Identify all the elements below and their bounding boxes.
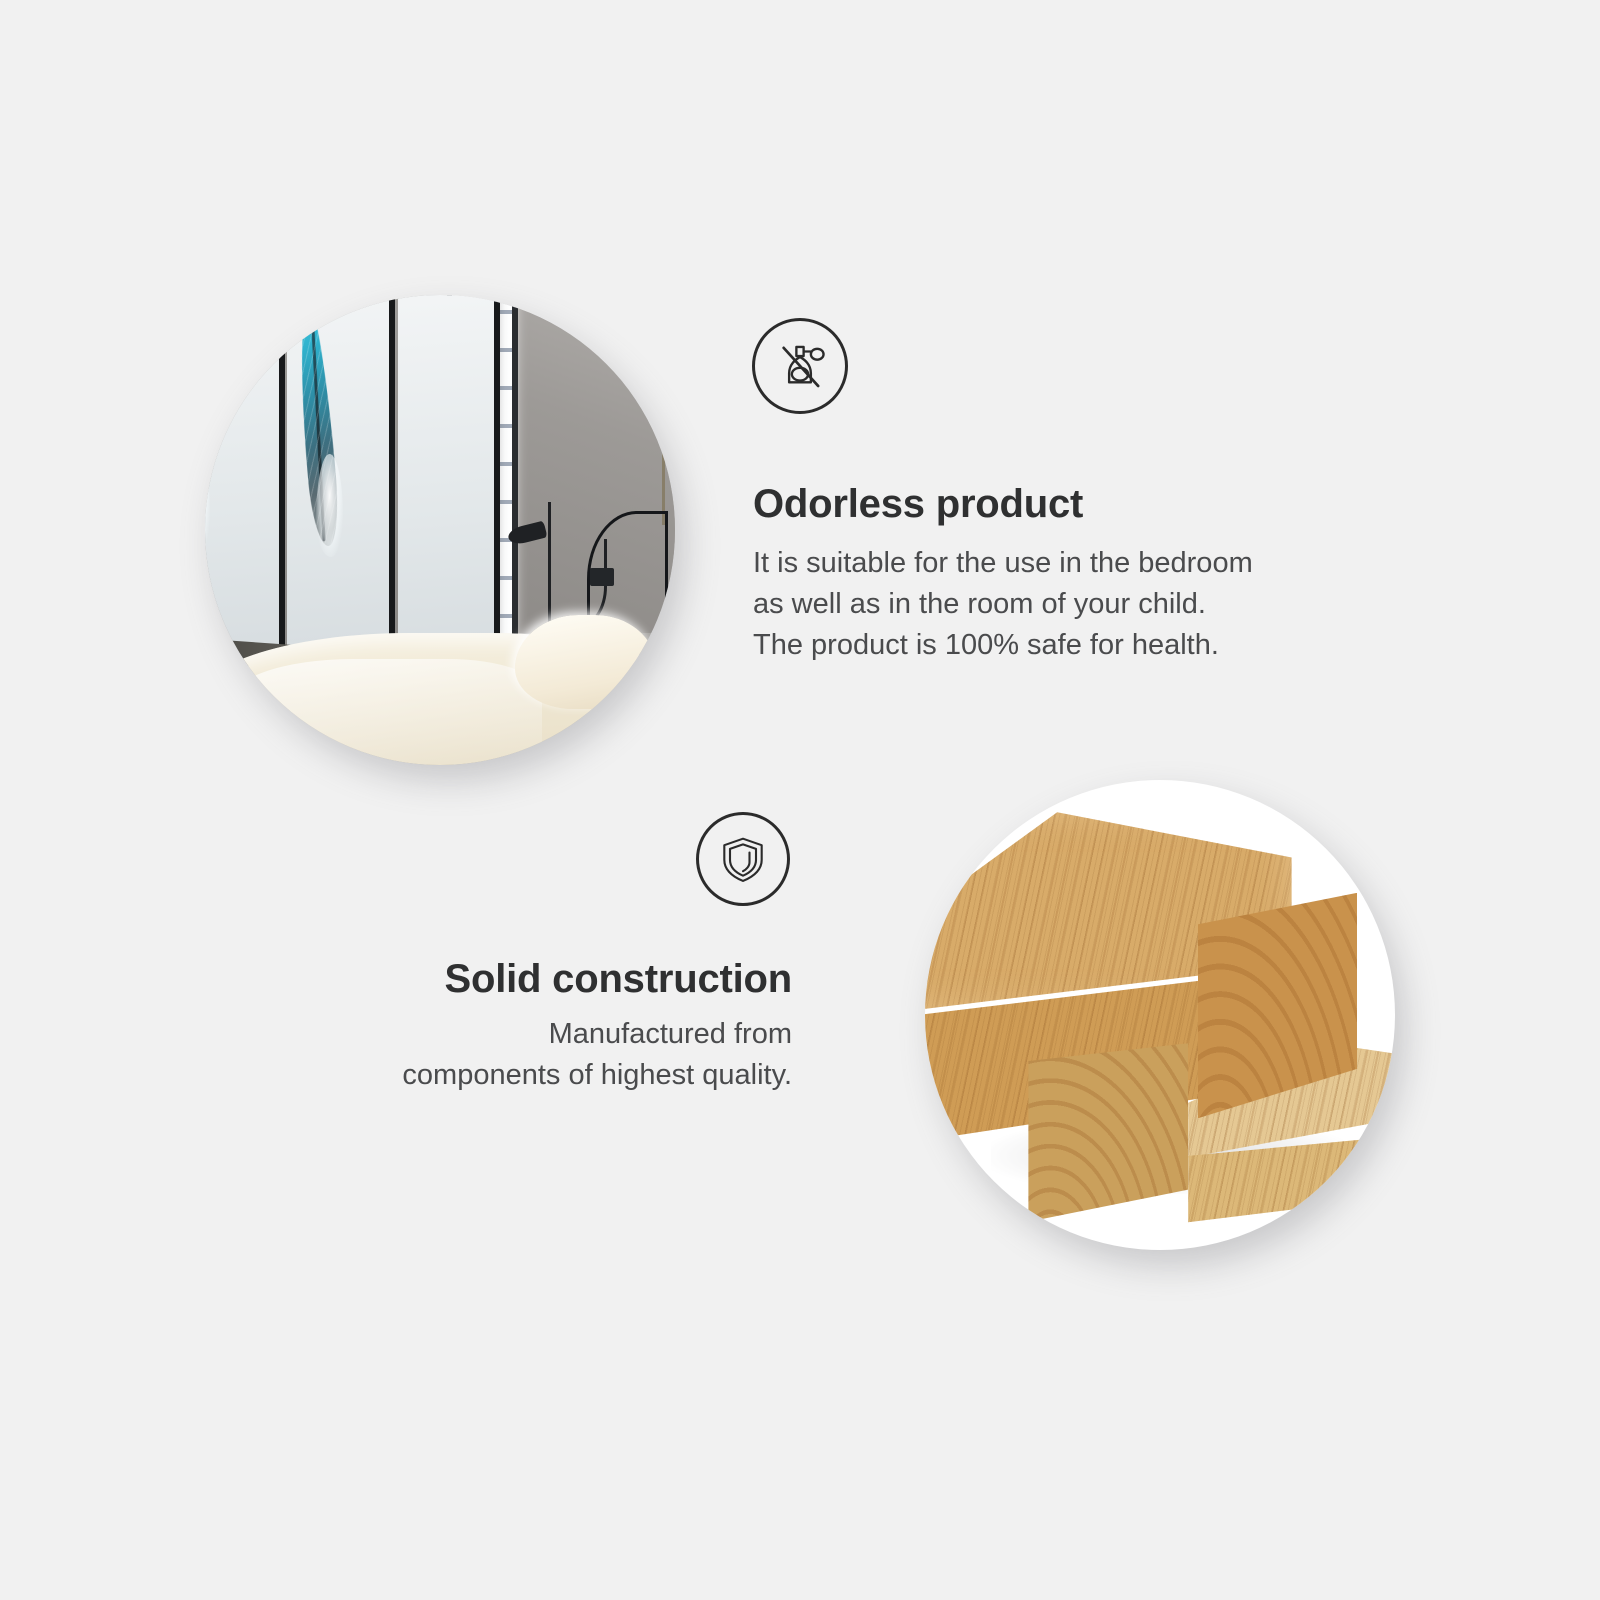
feature-solid-text: Solid construction Manufactured from com… bbox=[230, 958, 792, 1096]
feature-odorless-title: Odorless product bbox=[753, 483, 1453, 525]
window-frame-right bbox=[512, 295, 518, 671]
wood-face-endgrain bbox=[1028, 1043, 1188, 1222]
panel-divider bbox=[389, 295, 395, 652]
feature-solid-title: Solid construction bbox=[230, 958, 792, 1000]
bed-pillow bbox=[515, 615, 656, 709]
bedroom-scene bbox=[205, 295, 675, 765]
feature-solid-body: Manufactured from components of highest … bbox=[230, 1014, 792, 1096]
feature-odorless-text: Odorless product It is suitable for the … bbox=[753, 483, 1453, 667]
wooden-blocks-photo bbox=[925, 780, 1395, 1250]
wall-sconce bbox=[590, 568, 614, 587]
shield-glyph bbox=[717, 833, 769, 885]
bedroom-feather-canvas-photo bbox=[205, 295, 675, 765]
wood-cube-upper bbox=[1198, 893, 1358, 1119]
no-perfume-icon bbox=[752, 318, 848, 414]
wood-face-endgrain bbox=[1198, 893, 1358, 1119]
arc-lamp-post bbox=[665, 511, 668, 633]
wood-scene bbox=[925, 780, 1395, 1250]
no-perfume-glyph bbox=[771, 337, 829, 395]
infographic-canvas: Odorless product It is suitable for the … bbox=[0, 0, 1600, 1600]
panel-divider bbox=[279, 295, 285, 652]
feather-canvas-panel-3 bbox=[398, 295, 497, 652]
feather-down bbox=[316, 454, 343, 557]
panel-divider bbox=[494, 295, 500, 652]
wood-cube-front bbox=[1028, 1043, 1188, 1222]
feature-odorless-body: It is suitable for the use in the bedroo… bbox=[753, 543, 1453, 667]
shield-icon bbox=[696, 812, 790, 906]
feather-down bbox=[205, 447, 210, 557]
feather-canvas-panel-2 bbox=[287, 295, 390, 652]
feather-canvas-panel-1 bbox=[205, 295, 280, 652]
